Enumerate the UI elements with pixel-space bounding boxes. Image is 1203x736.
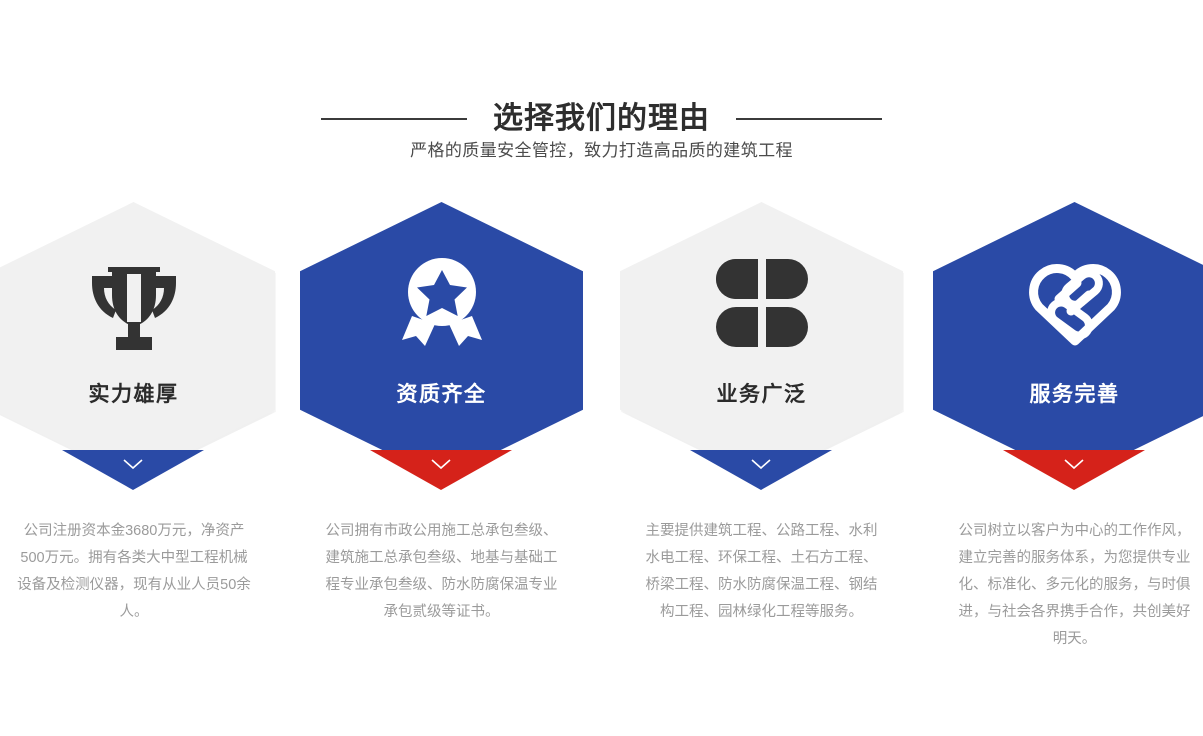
card-title: 资质齐全 [300,378,583,408]
card-icon-slot [933,248,1203,358]
feature-card[interactable]: 实力雄厚 公司注册资本金3680万元，净资产500万元。拥有各类大中型工程机械设… [0,200,275,700]
title-rule-left [321,118,467,120]
card-ribbon[interactable] [62,450,204,490]
page-subtitle: 严格的质量安全管控，致力打造高品质的建筑工程 [0,136,1203,161]
hexagon-badge: 实力雄厚 [0,200,275,490]
hexagon-badge: 资质齐全 [300,200,583,490]
card-ribbon[interactable] [370,450,512,490]
chevron-down-icon [1003,458,1145,470]
feature-card-list: 实力雄厚 公司注册资本金3680万元，净资产500万元。拥有各类大中型工程机械设… [0,200,1203,700]
card-title: 服务完善 [933,378,1203,408]
card-icon-slot [300,248,583,358]
card-icon-slot [0,248,275,358]
card-title: 业务广泛 [620,378,903,408]
card-description: 公司树立以客户为中心的工作作风，建立完善的服务体系，为您提供专业化、标准化、多元… [953,518,1196,653]
chevron-down-icon [690,458,832,470]
hexagon-badge: 业务广泛 [620,200,903,490]
heart-handshake-icon [1025,255,1125,351]
card-description: 主要提供建筑工程、公路工程、水利水电工程、环保工程、土石方工程、桥梁工程、防水防… [640,518,883,626]
title-rule-right [736,118,882,120]
page-title: 选择我们的理由 [493,104,710,134]
card-icon-slot [620,248,903,358]
feature-card[interactable]: 资质齐全 公司拥有市政公用施工总承包叁级、建筑施工总承包叁级、地基与基础工程专业… [300,200,583,700]
section-header: 选择我们的理由 严格的质量安全管控，致力打造高品质的建筑工程 [0,0,1203,180]
card-ribbon[interactable] [690,450,832,490]
card-description: 公司注册资本金3680万元，净资产500万元。拥有各类大中型工程机械设备及检测仪… [14,518,254,626]
hexagon-badge: 服务完善 [933,200,1203,490]
clover-icon [716,257,808,349]
card-description: 公司拥有市政公用施工总承包叁级、建筑施工总承包叁级、地基与基础工程专业承包叁级、… [320,518,563,626]
card-title: 实力雄厚 [0,378,275,408]
chevron-down-icon [62,458,204,470]
medal-icon [394,254,490,352]
feature-card[interactable]: 服务完善 公司树立以客户为中心的工作作风，建立完善的服务体系，为您提供专业化、标… [933,200,1203,700]
card-ribbon[interactable] [1003,450,1145,490]
trophy-icon [88,255,180,351]
chevron-down-icon [370,458,512,470]
feature-card[interactable]: 业务广泛 主要提供建筑工程、公路工程、水利水电工程、环保工程、土石方工程、桥梁工… [620,200,903,700]
